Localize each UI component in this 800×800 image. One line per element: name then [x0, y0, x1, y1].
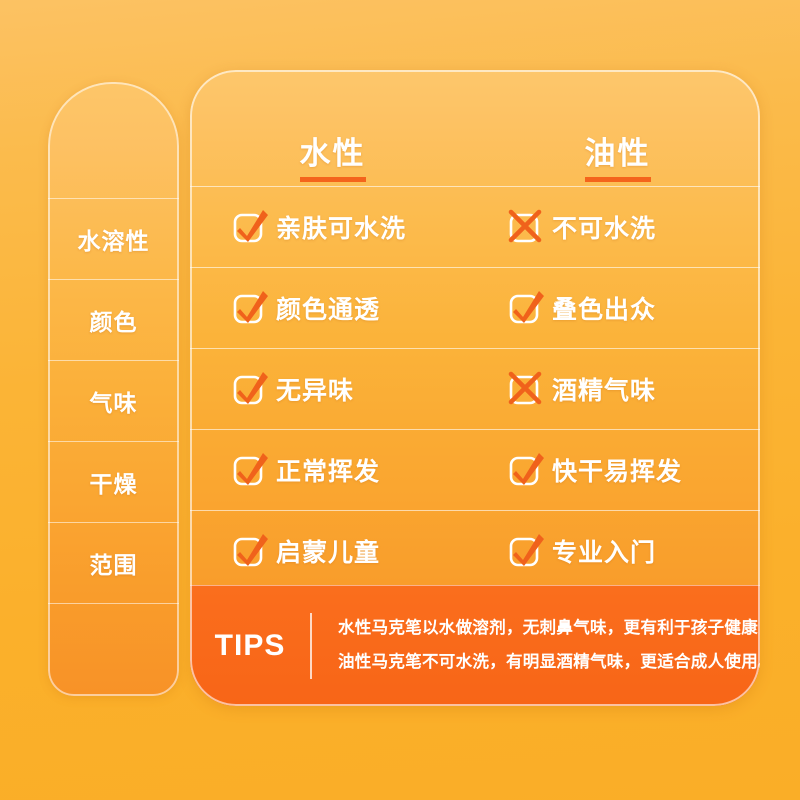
tips-line-1: 水性马克笔以水做溶剂，无刺鼻气味，更有利于孩子健康， — [338, 612, 760, 646]
sidebar-footer-spacer — [48, 603, 179, 605]
tips-banner: TIPS 水性马克笔以水做溶剂，无刺鼻气味，更有利于孩子健康， 油性马克笔不可水… — [190, 585, 760, 706]
check-icon — [510, 293, 540, 323]
sidebar-item-label: 气味 — [90, 384, 138, 418]
cell-label: 无异味 — [276, 371, 354, 407]
sidebar-item-range[interactable]: 范围 — [48, 522, 179, 603]
attribute-sidebar: 水溶性 颜色 气味 干燥 范围 — [48, 82, 179, 696]
cell-label: 叠色出众 — [552, 290, 656, 326]
cell-odor-oil: 酒精气味 — [484, 371, 760, 407]
table-row: 正常挥发 快干易挥发 — [190, 429, 760, 510]
check-icon — [234, 374, 264, 404]
check-icon — [234, 293, 264, 323]
cell-drying-oil: 快干易挥发 — [484, 452, 760, 488]
cell-label: 亲肤可水洗 — [276, 209, 406, 245]
cell-color-water: 颜色通透 — [190, 290, 484, 326]
column-header-row: 水性 油性 — [190, 70, 760, 186]
sidebar-item-label: 颜色 — [90, 303, 138, 337]
check-icon — [234, 212, 264, 242]
table-row: 启蒙儿童 专业入门 — [190, 510, 760, 591]
cell-range-water: 启蒙儿童 — [190, 533, 484, 569]
cell-color-oil: 叠色出众 — [484, 290, 760, 326]
comparison-infographic: 水溶性 颜色 气味 干燥 范围 水性 油性 — [0, 0, 800, 800]
cell-water-solubility-oil: 不可水洗 — [484, 209, 760, 245]
sidebar-header-spacer — [48, 82, 179, 198]
cell-drying-water: 正常挥发 — [190, 452, 484, 488]
check-icon — [510, 455, 540, 485]
table-row: 颜色通透 叠色出众 — [190, 267, 760, 348]
sidebar-item-label: 范围 — [90, 546, 138, 580]
cell-odor-water: 无异味 — [190, 371, 484, 407]
tips-body: 水性马克笔以水做溶剂，无刺鼻气味，更有利于孩子健康， 油性马克笔不可水洗，有明显… — [312, 612, 760, 680]
cell-label: 专业入门 — [552, 533, 656, 569]
column-header-oil: 油性 — [475, 137, 760, 182]
cell-label: 酒精气味 — [552, 371, 656, 407]
sidebar-item-label: 干燥 — [90, 465, 138, 499]
sidebar-item-color[interactable]: 颜色 — [48, 279, 179, 360]
cell-label: 颜色通透 — [276, 290, 380, 326]
tips-line-2: 油性马克笔不可水洗，有明显酒精气味，更适合成人使用。 — [338, 646, 760, 680]
cell-label: 启蒙儿童 — [276, 533, 380, 569]
check-icon — [510, 536, 540, 566]
tips-title: TIPS — [190, 629, 310, 663]
cell-label: 正常挥发 — [276, 452, 380, 488]
sidebar-item-water-solubility[interactable]: 水溶性 — [48, 198, 179, 279]
cell-range-oil: 专业入门 — [484, 533, 760, 569]
cell-water-solubility-water: 亲肤可水洗 — [190, 209, 484, 245]
sidebar-item-odor[interactable]: 气味 — [48, 360, 179, 441]
cell-label: 快干易挥发 — [552, 452, 682, 488]
sidebar-item-label: 水溶性 — [78, 222, 150, 256]
check-icon — [234, 455, 264, 485]
comparison-card: 水性 油性 亲肤可水洗 — [190, 70, 760, 706]
column-header-water: 水性 — [190, 137, 475, 182]
sidebar-item-drying[interactable]: 干燥 — [48, 441, 179, 522]
cross-icon — [510, 212, 540, 242]
cross-icon — [510, 374, 540, 404]
column-header-water-label: 水性 — [300, 137, 366, 182]
table-row: 无异味 酒精气味 — [190, 348, 760, 429]
column-header-oil-label: 油性 — [585, 137, 651, 182]
table-row: 亲肤可水洗 不可水洗 — [190, 186, 760, 267]
check-icon — [234, 536, 264, 566]
cell-label: 不可水洗 — [552, 209, 656, 245]
